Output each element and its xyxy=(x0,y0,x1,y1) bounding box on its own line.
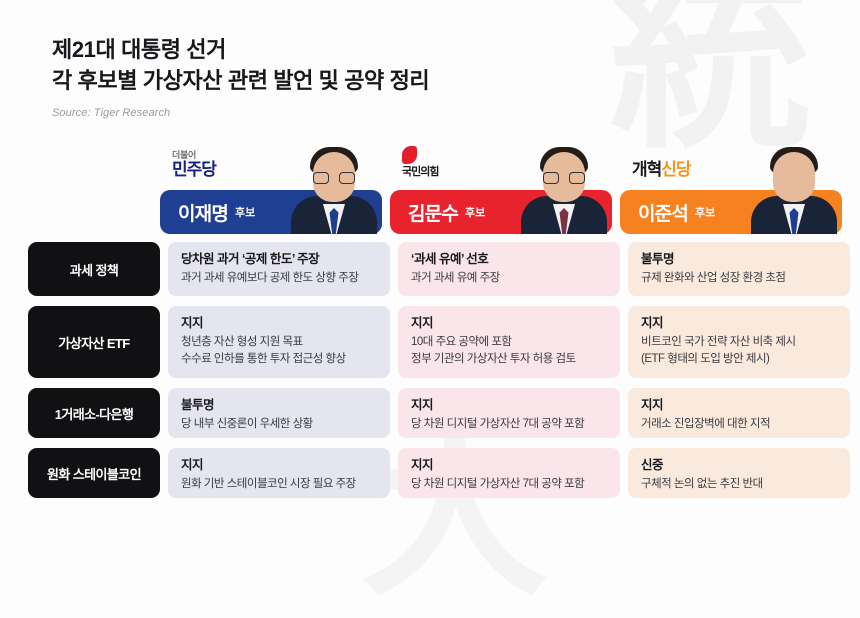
candidate-header-row: 더불어 민주당 이재명 후보 xyxy=(0,140,860,234)
infographic-page: 제21대 대통령 선거 각 후보별 가상자산 관련 발언 및 공약 정리 Sou… xyxy=(0,0,860,537)
row-label-0: 과세 정책 xyxy=(28,242,160,296)
party-logo-reform: 개혁신당 xyxy=(632,144,691,178)
table-row: 원화 스테이블코인 지지 원화 기반 스테이블코인 시장 필요 주장 지지 당 … xyxy=(0,448,860,498)
party-name: 민주당 xyxy=(172,161,216,178)
detail-text: 당 내부 신중론이 우세한 상황 xyxy=(181,416,377,433)
candidate-name: 이재명 xyxy=(178,199,228,226)
stance-text: 지지 xyxy=(641,397,837,413)
table-row: 가상자산 ETF 지지 청년층 자산 형성 지원 목표수수료 인하를 통한 투자… xyxy=(0,306,860,378)
stance-text: 불투명 xyxy=(181,397,377,413)
row-label-2: 1거래소-다은행 xyxy=(28,388,160,438)
policy-cell: 지지 청년층 자산 형성 지원 목표수수료 인하를 통한 투자 접근성 향상 xyxy=(168,306,390,378)
detail-text: 당 차원 디지털 가상자산 7대 공약 포함 xyxy=(411,476,607,493)
ppp-mark-icon xyxy=(402,146,417,164)
party-name-accent: 신당 xyxy=(661,160,690,179)
candidate-name: 김문수 xyxy=(408,199,458,226)
candidate-column-1: 국민의힘 김문수 후보 xyxy=(390,140,612,234)
detail-text: 거래소 진입장벽에 대한 지적 xyxy=(641,416,837,433)
glasses-icon xyxy=(313,172,355,184)
table-row: 과세 정책 당차원 과거 ‘공제 한도’ 주장 과거 과세 유예보다 공제 한도… xyxy=(0,242,860,296)
party-sublabel: 더불어 xyxy=(172,151,216,160)
stance-text: 지지 xyxy=(411,315,607,331)
party-logo-peoplepower: 국민의힘 xyxy=(402,144,438,178)
header: 제21대 대통령 선거 각 후보별 가상자산 관련 발언 및 공약 정리 Sou… xyxy=(0,0,860,119)
stance-text: 지지 xyxy=(641,315,837,331)
policy-cell: 지지 10대 주요 공약에 포함정부 기관의 가상자산 투자 허용 검토 xyxy=(398,306,620,378)
party-name: 국민의힘 xyxy=(402,167,438,178)
party-name-pre: 개혁 xyxy=(632,160,661,179)
row-label-3: 원화 스테이블코인 xyxy=(28,448,160,498)
stance-text: 불투명 xyxy=(641,251,837,267)
policy-rows: 과세 정책 당차원 과거 ‘공제 한도’ 주장 과거 과세 유예보다 공제 한도… xyxy=(0,242,860,498)
glasses-icon xyxy=(543,172,585,184)
policy-cell: 지지 원화 기반 스테이블코인 시장 필요 주장 xyxy=(168,448,390,498)
policy-cell: 지지 거래소 진입장벽에 대한 지적 xyxy=(628,388,850,438)
page-title-line1: 제21대 대통령 선거 xyxy=(52,34,860,65)
row-label-1: 가상자산 ETF xyxy=(28,306,160,378)
stance-text: 지지 xyxy=(181,315,377,331)
source-credit: Source: Tiger Research xyxy=(52,107,860,119)
policy-cell: 신중 구체적 논의 없는 추진 반대 xyxy=(628,448,850,498)
stance-text: 당차원 과거 ‘공제 한도’ 주장 xyxy=(181,251,377,267)
detail-text: 과거 과세 유예 주장 xyxy=(411,270,607,287)
detail-text: 구체적 논의 없는 추진 반대 xyxy=(641,476,837,493)
policy-cell: 당차원 과거 ‘공제 한도’ 주장 과거 과세 유예보다 공제 한도 상향 주장 xyxy=(168,242,390,296)
candidate-name: 이준석 xyxy=(638,199,688,226)
party-logo-democratic: 더불어 민주당 xyxy=(172,144,216,178)
candidate-portrait-1 xyxy=(518,142,610,234)
detail-text: 비트코인 국가 전략 자산 비축 제시(ETF 형태의 도입 방안 제시) xyxy=(641,334,837,368)
page-title-line2: 각 후보별 가상자산 관련 발언 및 공약 정리 xyxy=(52,65,860,96)
party-name: 개혁신당 xyxy=(632,161,691,178)
stance-text: 지지 xyxy=(411,457,607,473)
candidate-suffix: 후보 xyxy=(235,204,255,220)
policy-cell: 지지 당 차원 디지털 가상자산 7대 공약 포함 xyxy=(398,388,620,438)
policy-cell: ‘과세 유예’ 선호 과거 과세 유예 주장 xyxy=(398,242,620,296)
policy-cell: 지지 당 차원 디지털 가상자산 7대 공약 포함 xyxy=(398,448,620,498)
detail-text: 당 차원 디지털 가상자산 7대 공약 포함 xyxy=(411,416,607,433)
candidate-suffix: 후보 xyxy=(465,204,485,220)
detail-text: 청년층 자산 형성 지원 목표수수료 인하를 통한 투자 접근성 향상 xyxy=(181,334,377,368)
stance-text: ‘과세 유예’ 선호 xyxy=(411,251,607,267)
candidate-portrait-0 xyxy=(288,142,380,234)
detail-text: 원화 기반 스테이블코인 시장 필요 주장 xyxy=(181,476,377,493)
table-row: 1거래소-다은행 불투명 당 내부 신중론이 우세한 상황 지지 당 차원 디지… xyxy=(0,388,860,438)
detail-text: 10대 주요 공약에 포함정부 기관의 가상자산 투자 허용 검토 xyxy=(411,334,607,368)
stance-text: 지지 xyxy=(181,457,377,473)
detail-text: 과거 과세 유예보다 공제 한도 상향 주장 xyxy=(181,270,377,287)
policy-cell: 지지 비트코인 국가 전략 자산 비축 제시(ETF 형태의 도입 방안 제시) xyxy=(628,306,850,378)
policy-cell: 불투명 규제 완화와 산업 성장 환경 초점 xyxy=(628,242,850,296)
comparison-grid: 더불어 민주당 이재명 후보 xyxy=(0,140,860,508)
candidate-column-2: 개혁신당 이준석 후보 xyxy=(620,140,842,234)
policy-cell: 불투명 당 내부 신중론이 우세한 상황 xyxy=(168,388,390,438)
candidate-column-0: 더불어 민주당 이재명 후보 xyxy=(160,140,382,234)
stance-text: 신중 xyxy=(641,457,837,473)
candidate-suffix: 후보 xyxy=(695,204,715,220)
stance-text: 지지 xyxy=(411,397,607,413)
detail-text: 규제 완화와 산업 성장 환경 초점 xyxy=(641,270,837,287)
candidate-portrait-2 xyxy=(748,142,840,234)
